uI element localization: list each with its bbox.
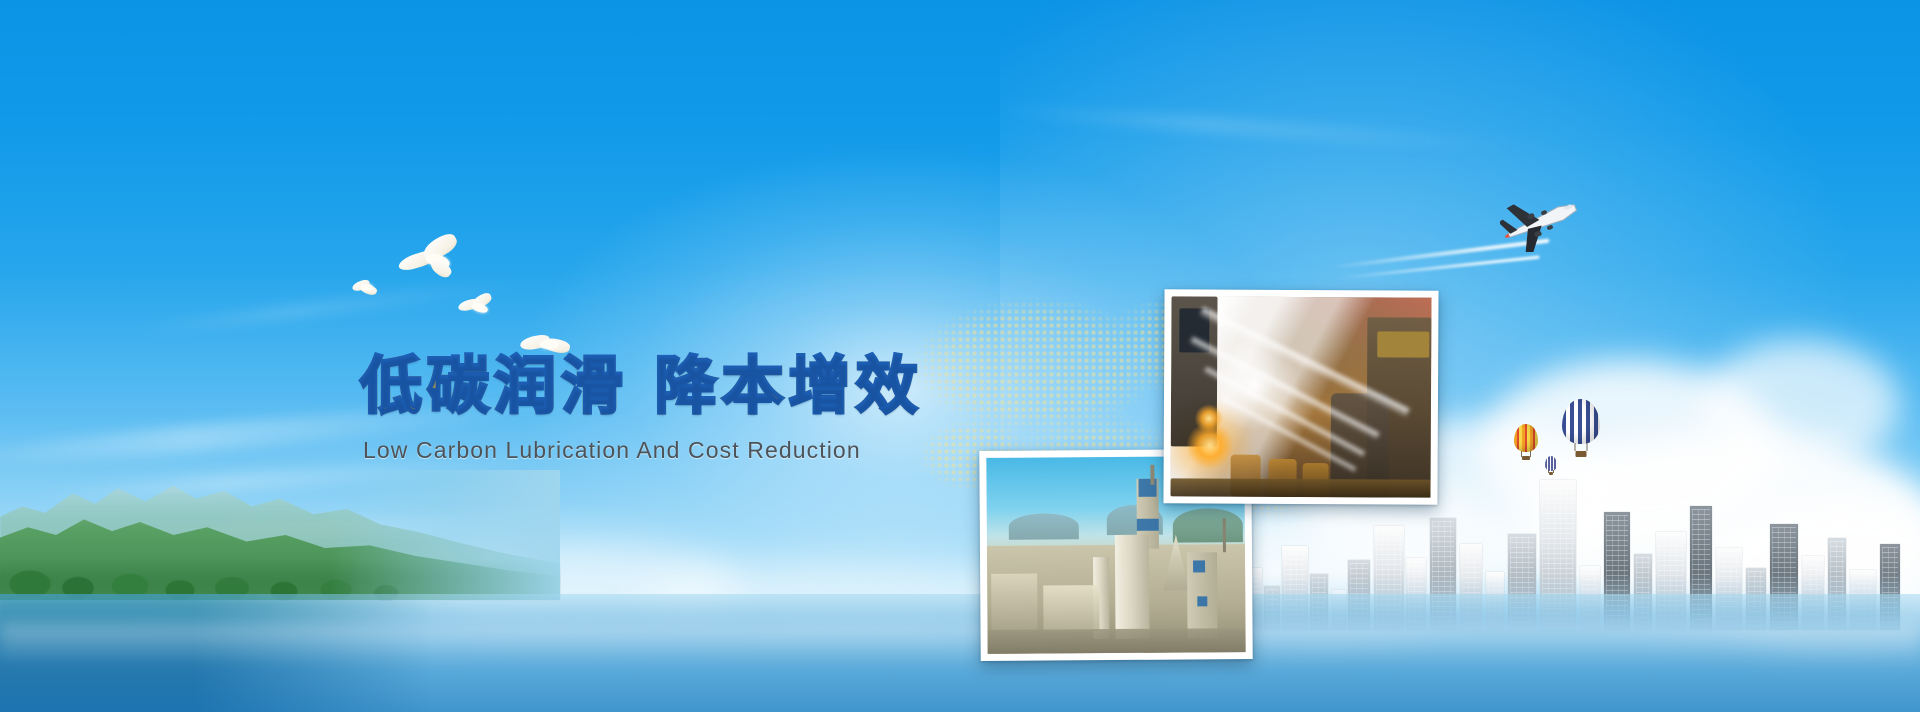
green-mountain-island (0, 470, 560, 600)
hot-air-balloon-medium-icon (1514, 424, 1538, 460)
page-title-cn: 低碳润滑 降本增效 (360, 355, 923, 417)
hot-air-balloon-tiny-icon (1545, 456, 1557, 475)
dove-icon (352, 277, 378, 297)
cirrus-streak-icon (980, 100, 1540, 155)
dove-icon (458, 294, 492, 320)
photo-steel-mill[interactable] (1163, 289, 1438, 504)
hot-air-balloon-large-icon (1562, 399, 1600, 457)
island-reflection (0, 600, 470, 680)
cirrus-streak-icon (121, 274, 540, 339)
airliner-icon (1500, 190, 1584, 252)
hero-banner: 低碳润滑 降本增效 Low Carbon Lubrication And Cos… (0, 0, 1920, 712)
page-subtitle-en: Low Carbon Lubrication And Cost Reductio… (363, 437, 923, 464)
low-cloud (380, 540, 740, 630)
headline-block: 低碳润滑 降本增效 Low Carbon Lubrication And Cos… (360, 355, 923, 464)
dove-icon (398, 238, 460, 284)
low-cloud (150, 580, 410, 640)
water-left-deep (0, 594, 430, 712)
contrail (1340, 256, 1539, 280)
cirrus-streak-icon (0, 393, 560, 473)
cirrus-streak-icon (20, 452, 540, 506)
cirrus-streak-icon (0, 502, 660, 561)
dove-icon (520, 330, 570, 360)
water-sheen (0, 624, 1920, 666)
contrail (1331, 239, 1550, 270)
reflective-water (0, 594, 1920, 712)
